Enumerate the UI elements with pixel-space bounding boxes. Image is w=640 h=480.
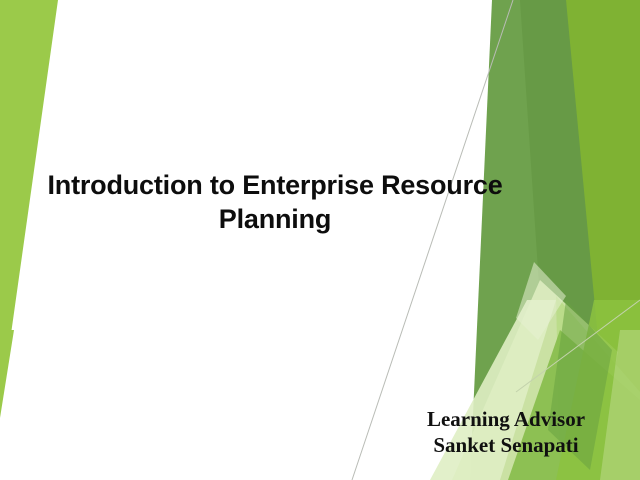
right-band-deep-sliver <box>520 0 600 360</box>
left-green-wedge-tip <box>0 330 14 418</box>
slide-title: Introduction to Enterprise Resource Plan… <box>40 168 510 237</box>
title-placeholder: Introduction to Enterprise Resource Plan… <box>40 168 510 237</box>
subtitle-line-name: Sanket Senapati <box>398 432 614 458</box>
diagonal-hairline-secondary <box>516 300 640 392</box>
subtitle-placeholder: Learning Advisor Sanket Senapati <box>398 406 614 459</box>
title-slide: Introduction to Enterprise Resource Plan… <box>0 0 640 480</box>
right-pale-shard-upper <box>516 262 566 340</box>
subtitle-line-role: Learning Advisor <box>398 406 614 432</box>
